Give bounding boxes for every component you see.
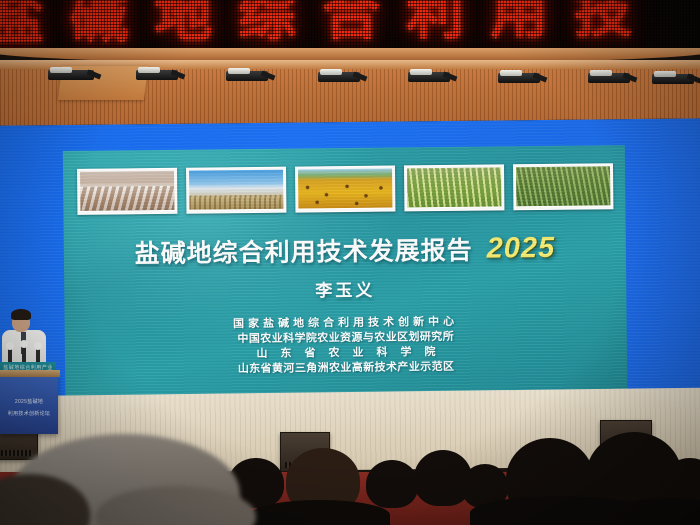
led-banner-text: 盐碱地综合利用技 [0,0,698,54]
slide-photo-saline-alkali-land [77,168,177,215]
stage-light [48,70,94,80]
podium-desktop [0,370,60,377]
slide-photo-sunflower-field [295,166,395,213]
slide-photo-wheat-field [404,164,504,211]
stage-light [136,70,178,80]
presenter-hair [11,309,31,320]
slide-title-year: 2025 [486,231,555,264]
stage-light [652,74,694,84]
audience [0,400,700,525]
projection-screen: 盐碱地综合利用技术发展报告2025 李玉义 国家盐碱地综合利用技术创新中心 中国… [0,118,700,408]
slide-photo-green-grassland [513,163,613,210]
conference-hall-photo: 盐碱地综合利用技 盐碱地综合利用技术发展报告2025 李玉义 [0,0,700,525]
audience-shoulders [250,500,390,525]
stage-light [318,72,360,82]
audience-head [366,460,418,508]
led-banner: 盐碱地综合利用技 [0,0,700,54]
slide-photo-strip [77,163,613,219]
slide-photo-coastal-saline-flat [186,167,286,214]
slide-author: 李玉义 [64,273,626,304]
presentation-slide: 盐碱地综合利用技术发展报告2025 李玉义 国家盐碱地综合利用技术创新中心 中国… [63,145,628,408]
slide-title: 盐碱地综合利用技术发展报告2025 [64,229,626,271]
slide-organizations: 国家盐碱地综合利用技术创新中心 中国农业科学院农业资源与农业区划研究所 山东省农… [65,313,628,379]
stage-light [498,73,540,83]
stage-light [408,72,450,82]
stage-light [226,71,268,81]
stage-light [588,73,630,83]
slide-title-text: 盐碱地综合利用技术发展报告 [134,237,472,269]
